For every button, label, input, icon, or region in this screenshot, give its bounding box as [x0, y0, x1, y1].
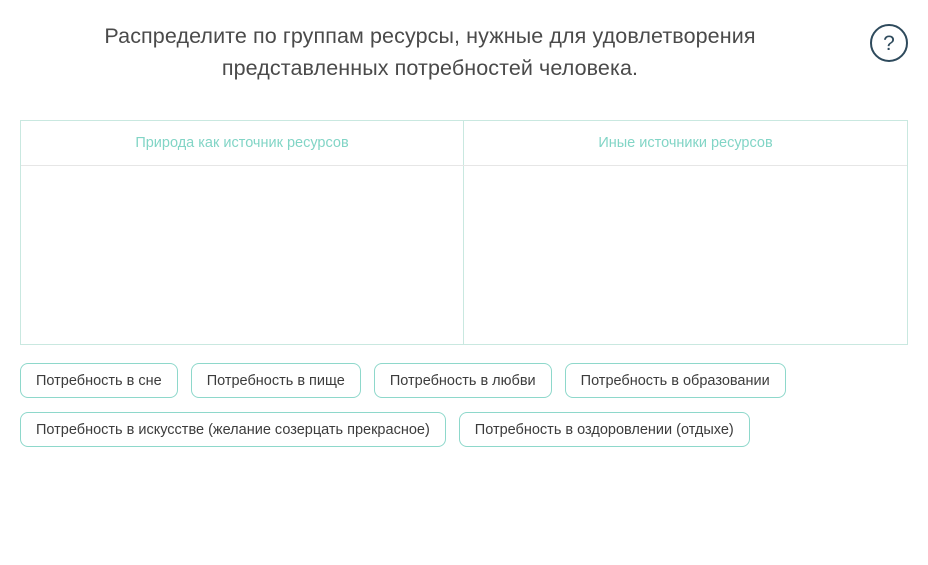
- chip-need-food[interactable]: Потребность в пище: [191, 363, 361, 398]
- question-mark-glyph: ?: [883, 33, 895, 54]
- chip-need-art[interactable]: Потребность в искусстве (желание созерца…: [20, 412, 446, 447]
- classification-table: Природа как источник ресурсов Иные источ…: [20, 120, 908, 345]
- table-header-row: Природа как источник ресурсов Иные источ…: [21, 121, 907, 166]
- column-header-other: Иные источники ресурсов: [464, 121, 907, 165]
- page-title: Распределите по группам ресурсы, нужные …: [20, 20, 840, 84]
- chip-need-recreation[interactable]: Потребность в оздоровлении (отдыхе): [459, 412, 750, 447]
- chip-row-1: Потребность в сне Потребность в пище Пот…: [20, 363, 910, 398]
- chip-row-2: Потребность в искусстве (желание созерца…: [20, 412, 910, 447]
- column-header-nature: Природа как источник ресурсов: [21, 121, 464, 165]
- chip-need-sleep[interactable]: Потребность в сне: [20, 363, 178, 398]
- chip-need-love[interactable]: Потребность в любви: [374, 363, 552, 398]
- page-header: Распределите по группам ресурсы, нужные …: [0, 0, 928, 110]
- drop-zone-other[interactable]: [464, 166, 907, 344]
- drop-zone-nature[interactable]: [21, 166, 464, 344]
- chip-need-education[interactable]: Потребность в образовании: [565, 363, 786, 398]
- table-body: [21, 166, 907, 344]
- chip-bank: Потребность в сне Потребность в пище Пот…: [20, 363, 910, 461]
- help-icon[interactable]: ?: [870, 24, 908, 62]
